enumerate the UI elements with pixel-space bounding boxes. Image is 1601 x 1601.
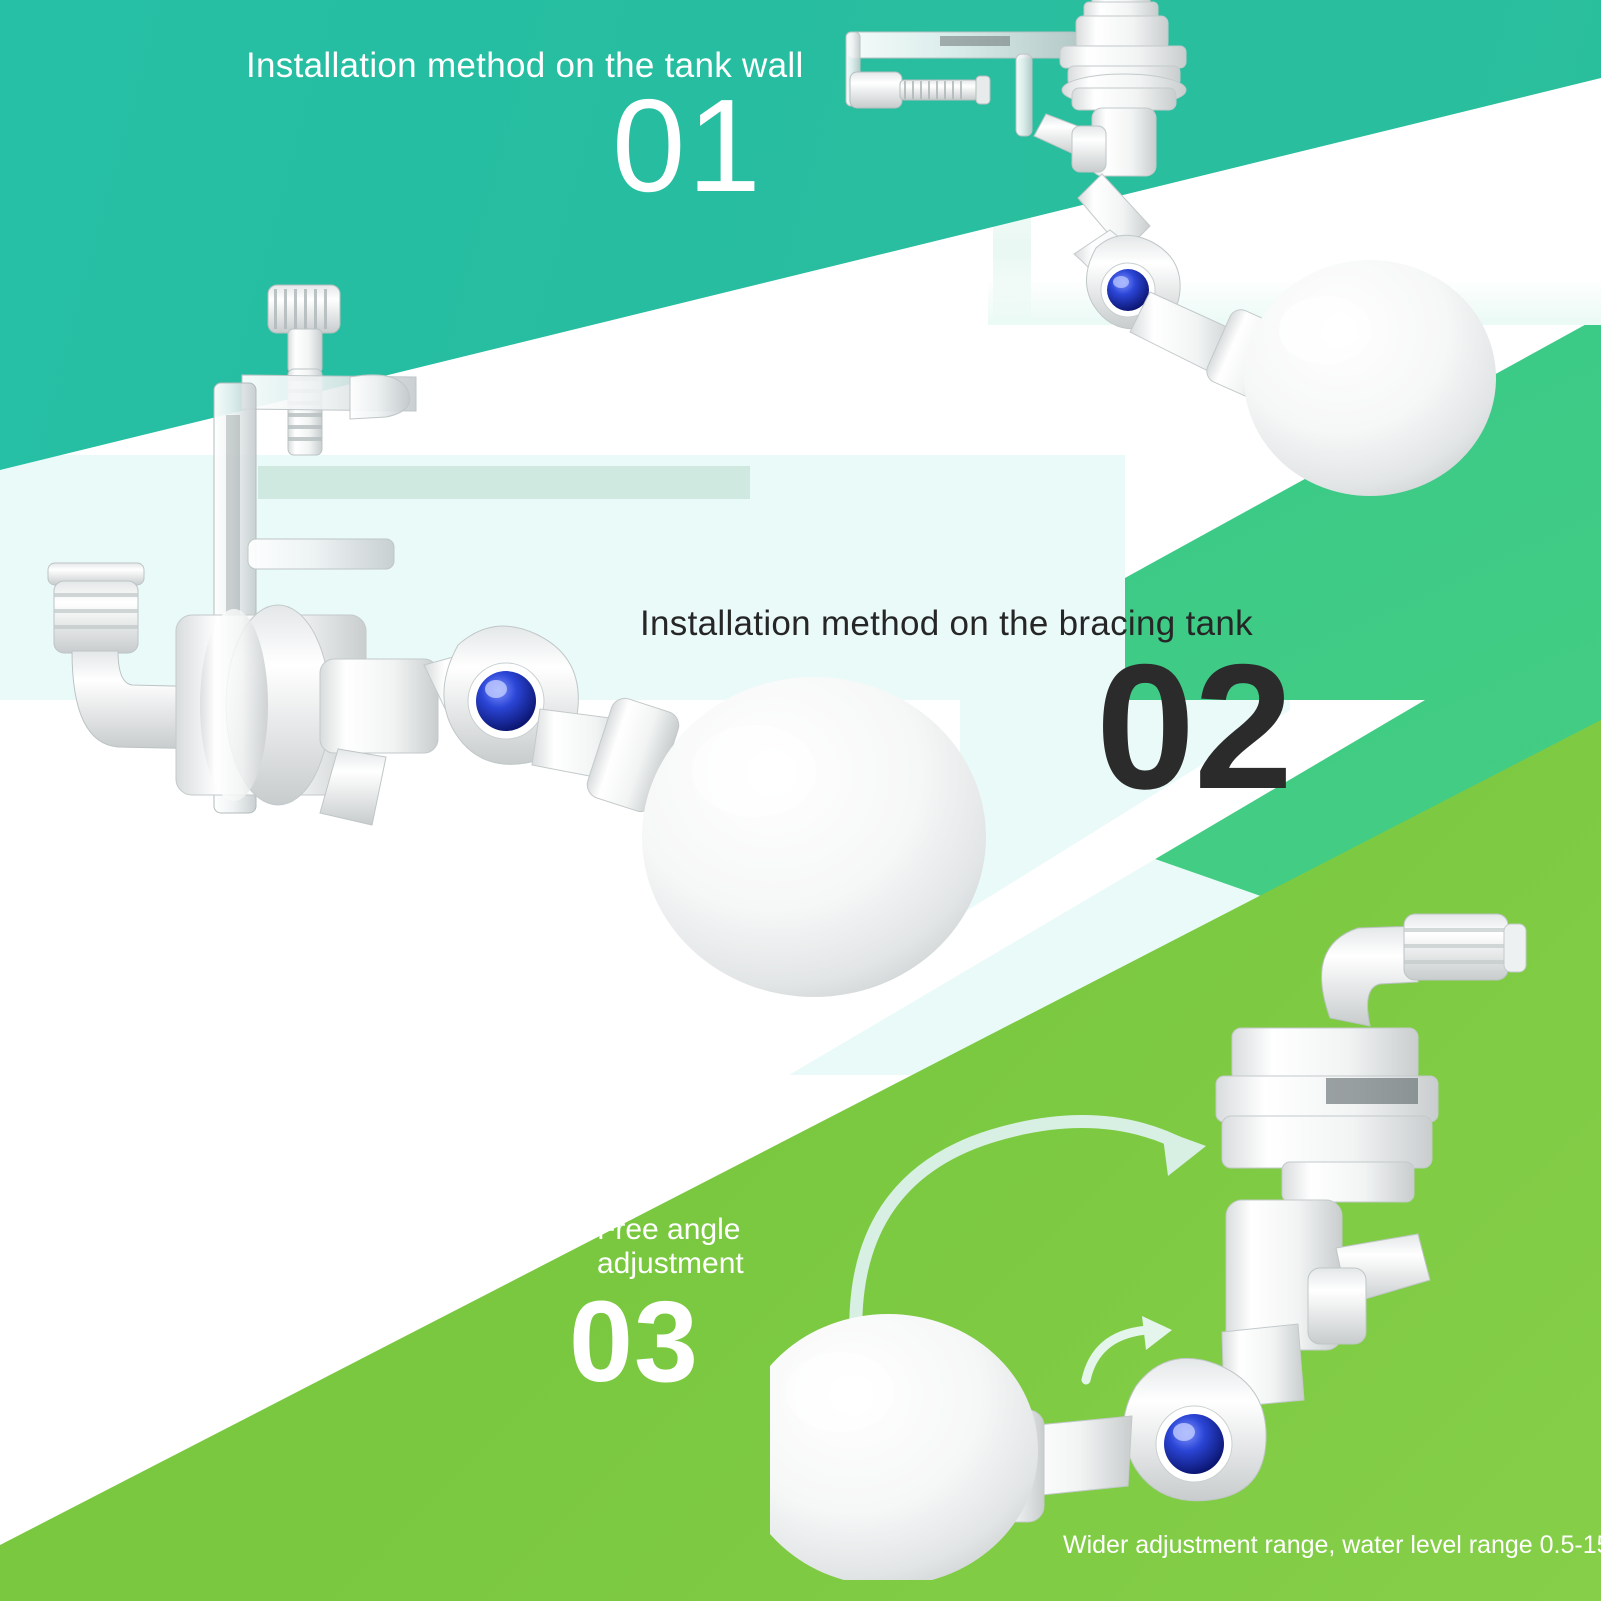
float-ball-1 [1244, 260, 1496, 496]
thumbscrew-1 [850, 72, 990, 108]
product-photo-free-angle [770, 880, 1600, 1580]
section3-title-line2: adjustment [597, 1247, 797, 1281]
valve-body-3 [1226, 1200, 1430, 1350]
thumbscrew-2 [268, 285, 340, 455]
elbow-quick-connect-3 [1322, 914, 1526, 1026]
footer-caption: Wider adjustment range, water level rang… [1063, 1531, 1601, 1560]
section3-number: 03 [569, 1285, 699, 1400]
section3-title: Free angle adjustment [597, 1213, 797, 1281]
section2-number: 02 [1096, 638, 1292, 816]
infographic-canvas: Installation method on the tank wall 01 … [0, 0, 1601, 1601]
float-ball-3 [770, 1314, 1038, 1580]
valve-body-2 [176, 605, 438, 825]
section3-title-line1: Free angle [597, 1213, 797, 1247]
lock-nut-3 [1216, 1028, 1438, 1202]
adjustable-arm-2 [424, 626, 682, 815]
section1-number: 01 [612, 80, 763, 212]
